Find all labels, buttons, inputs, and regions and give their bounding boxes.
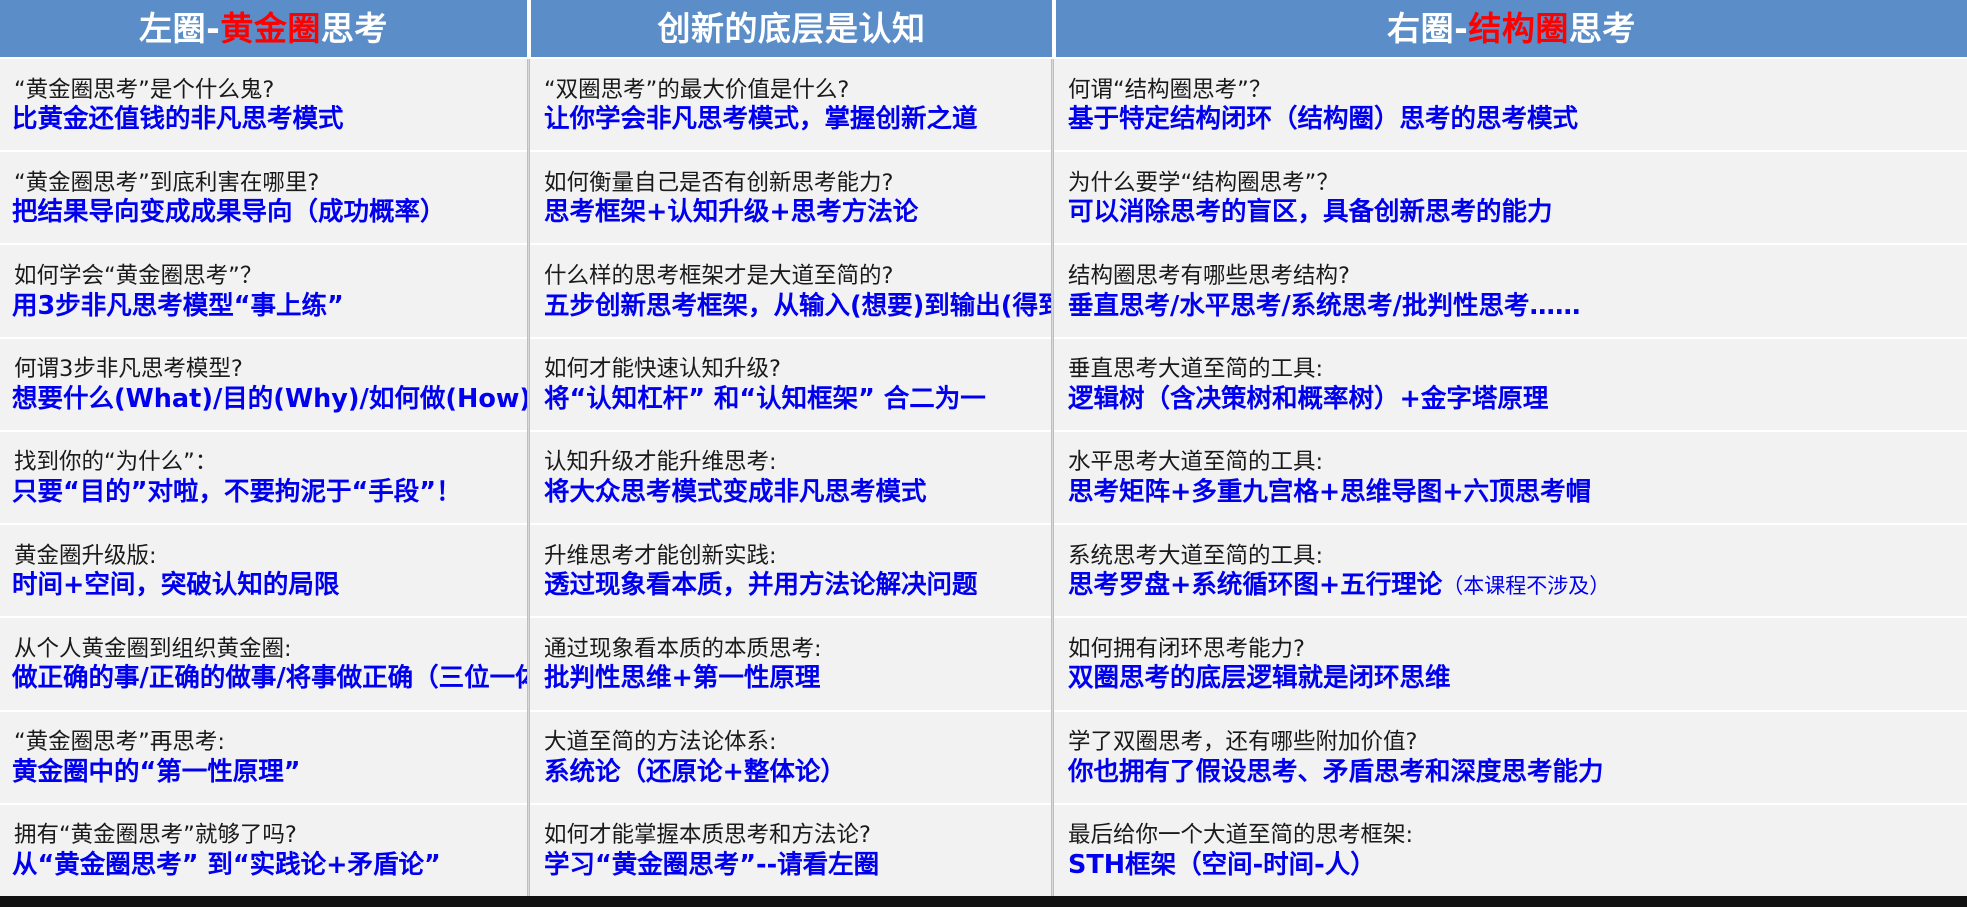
row-question: 从个人黄金圈到组织黄金圈: — [12, 636, 517, 663]
header-left-suffix: 思考 — [321, 12, 388, 45]
table-row: 如何学会“黄金圈思考”？ 用3步非凡思考模型“事上练” — [0, 245, 527, 338]
row-answer-note: （本课程不涉及） — [1442, 574, 1610, 598]
row-answer: 思考框架+认知升级+思考方法论 — [544, 197, 918, 228]
row-question: 黄金圈升级版: — [12, 543, 517, 570]
row-answer: 可以消除思考的盲区，具备创新思考的能力 — [1068, 197, 1957, 228]
table-row: 什么样的思考框架才是大道至简的? 五步创新思考框架，从输入(想要)到输出(得到) — [530, 245, 1051, 338]
table-row: 黄金圈升级版: 时间+空间，突破认知的局限 — [0, 525, 527, 618]
row-answer: 垂直思考/水平思考/系统思考/批判性思考…… — [1068, 291, 1957, 322]
bottom-bar — [0, 896, 1967, 907]
row-question: 如何学会“黄金圈思考”？ — [12, 263, 517, 290]
row-answer: 思考矩阵+多重九宫格+思维导图+六顶思考帽 — [1068, 477, 1957, 508]
row-question: 如何衡量自己是否有创新思考能力? — [544, 170, 893, 197]
row-answer: 做正确的事/正确的做事/将事做正确（三位一体） — [12, 663, 517, 694]
row-answer: 将大众思考模式变成非凡思考模式 — [544, 477, 927, 508]
row-question: 学了双圈思考，还有哪些附加价值? — [1068, 729, 1957, 756]
row-answer: 基于特定结构闭环（结构圈）思考的思考模式 — [1068, 104, 1957, 135]
row-question: 水平思考大道至简的工具: — [1068, 449, 1957, 476]
header-right-circle: 右圈-结构圈思考 — [1056, 0, 1967, 57]
table-row: 如何才能快速认知升级? 将“认知杠杆” 和“认知框架” 合二为一 — [530, 339, 1051, 432]
header-right-suffix: 思考 — [1569, 12, 1636, 45]
table-row: 升维思考才能创新实践: 透过现象看本质，并用方法论解决问题 — [530, 525, 1051, 618]
row-answer: 想要什么(What)/目的(Why)/如何做(How) — [12, 384, 517, 415]
row-question: 通过现象看本质的本质思考: — [544, 636, 822, 663]
table-row: “双圈思考”的最大价值是什么? 让你学会非凡思考模式，掌握创新之道 — [530, 59, 1051, 152]
row-answer: 从“黄金圈思考” 到“实践论+矛盾论” — [12, 850, 517, 881]
table-row: 垂直思考大道至简的工具: 逻辑树（含决策树和概率树）+金字塔原理 — [1054, 339, 1967, 432]
row-answer: 比黄金还值钱的非凡思考模式 — [12, 104, 517, 135]
table-row: 何谓“结构圈思考”？ 基于特定结构闭环（结构圈）思考的思考模式 — [1054, 59, 1967, 152]
row-question: 拥有“黄金圈思考”就够了吗? — [12, 822, 517, 849]
header-left-circle: 左圈-黄金圈思考 — [0, 0, 527, 57]
table-row: 系统思考大道至简的工具: 思考罗盘+系统循环图+五行理论（本课程不涉及） — [1054, 525, 1967, 618]
row-answer: 透过现象看本质，并用方法论解决问题 — [544, 570, 978, 601]
three-column-comparison-table: 左圈-黄金圈思考 创新的底层是认知 右圈-结构圈思考 “黄金圈思考”是个什么鬼?… — [0, 0, 1967, 907]
row-answer: 你也拥有了假设思考、矛盾思考和深度思考能力 — [1068, 757, 1957, 788]
row-answer: 将“认知杠杆” 和“认知框架” 合二为一 — [544, 384, 986, 415]
row-answer: 让你学会非凡思考模式，掌握创新之道 — [544, 104, 978, 135]
row-question: 如何拥有闭环思考能力? — [1068, 636, 1957, 663]
row-answer: 学习“黄金圈思考”--请看左圈 — [544, 850, 879, 881]
table-row: 结构圈思考有哪些思考结构? 垂直思考/水平思考/系统思考/批判性思考…… — [1054, 245, 1967, 338]
row-answer: 只要“目的”对啦，不要拘泥于“手段”！ — [12, 477, 517, 508]
row-answer: 双圈思考的底层逻辑就是闭环思维 — [1068, 663, 1957, 694]
table-row: 大道至简的方法论体系: 系统论（还原论+整体论） — [530, 712, 1051, 805]
row-question: 大道至简的方法论体系: — [544, 729, 777, 756]
table-row: 拥有“黄金圈思考”就够了吗? 从“黄金圈思考” 到“实践论+矛盾论” — [0, 805, 527, 896]
row-answer: 系统论（还原论+整体论） — [544, 757, 846, 788]
column-right: 何谓“结构圈思考”？ 基于特定结构闭环（结构圈）思考的思考模式 为什么要学“结构… — [1054, 59, 1967, 896]
row-question: 结构圈思考有哪些思考结构? — [1068, 263, 1957, 290]
row-question: 何谓“结构圈思考”？ — [1068, 77, 1957, 104]
header-left-highlight: 黄金圈 — [220, 12, 321, 45]
row-answer: 黄金圈中的“第一性原理” — [12, 757, 517, 788]
column-middle: “双圈思考”的最大价值是什么? 让你学会非凡思考模式，掌握创新之道 如何衡量自己… — [530, 59, 1051, 896]
table-row: 认知升级才能升维思考: 将大众思考模式变成非凡思考模式 — [530, 432, 1051, 525]
header-right-highlight: 结构圈 — [1468, 12, 1569, 45]
row-answer: STH框架（空间-时间-人） — [1068, 850, 1957, 881]
header-left-prefix: 左圈- — [139, 12, 220, 45]
table-row: “黄金圈思考”再思考: 黄金圈中的“第一性原理” — [0, 712, 527, 805]
table-header-row: 左圈-黄金圈思考 创新的底层是认知 右圈-结构圈思考 — [0, 0, 1967, 57]
row-answer: 逻辑树（含决策树和概率树）+金字塔原理 — [1068, 384, 1957, 415]
column-left: “黄金圈思考”是个什么鬼? 比黄金还值钱的非凡思考模式 “黄金圈思考”到底利害在… — [0, 59, 527, 896]
table-row: 为什么要学“结构圈思考”？ 可以消除思考的盲区，具备创新思考的能力 — [1054, 152, 1967, 245]
table-row: “黄金圈思考”到底利害在哪里? 把结果导向变成成果导向（成功概率） — [0, 152, 527, 245]
table-row: “黄金圈思考”是个什么鬼? 比黄金还值钱的非凡思考模式 — [0, 59, 527, 152]
row-question: 找到你的“为什么”： — [12, 449, 517, 476]
table-row: 从个人黄金圈到组织黄金圈: 做正确的事/正确的做事/将事做正确（三位一体） — [0, 618, 527, 711]
row-answer: 五步创新思考框架，从输入(想要)到输出(得到) — [544, 291, 1051, 322]
row-question: 垂直思考大道至简的工具: — [1068, 356, 1957, 383]
table-body: “黄金圈思考”是个什么鬼? 比黄金还值钱的非凡思考模式 “黄金圈思考”到底利害在… — [0, 57, 1967, 896]
table-row: 如何拥有闭环思考能力? 双圈思考的底层逻辑就是闭环思维 — [1054, 618, 1967, 711]
table-row: 最后给你一个大道至简的思考框架: STH框架（空间-时间-人） — [1054, 805, 1967, 896]
table-row: 何谓3步非凡思考模型? 想要什么(What)/目的(Why)/如何做(How) — [0, 339, 527, 432]
table-row: 如何衡量自己是否有创新思考能力? 思考框架+认知升级+思考方法论 — [530, 152, 1051, 245]
row-question: 升维思考才能创新实践: — [544, 543, 777, 570]
row-answer: 用3步非凡思考模型“事上练” — [12, 291, 517, 322]
header-right-prefix: 右圈- — [1387, 12, 1468, 45]
row-question: 为什么要学“结构圈思考”？ — [1068, 170, 1957, 197]
header-middle-cognition: 创新的底层是认知 — [531, 0, 1052, 57]
row-question: 何谓3步非凡思考模型? — [12, 356, 517, 383]
header-middle-text: 创新的底层是认知 — [658, 12, 926, 45]
row-question: “黄金圈思考”是个什么鬼? — [12, 77, 517, 104]
row-answer: 思考罗盘+系统循环图+五行理论（本课程不涉及） — [1068, 570, 1957, 601]
table-row: 通过现象看本质的本质思考: 批判性思维+第一性原理 — [530, 618, 1051, 711]
row-answer: 把结果导向变成成果导向（成功概率） — [12, 197, 517, 228]
row-question: 如何才能掌握本质思考和方法论? — [544, 822, 871, 849]
row-answer: 批判性思维+第一性原理 — [544, 663, 820, 694]
row-question: 什么样的思考框架才是大道至简的? — [544, 263, 893, 290]
row-answer: 时间+空间，突破认知的局限 — [12, 570, 517, 601]
row-question: “黄金圈思考”到底利害在哪里? — [12, 170, 517, 197]
row-question: 最后给你一个大道至简的思考框架: — [1068, 822, 1957, 849]
row-question: 认知升级才能升维思考: — [544, 449, 777, 476]
row-question: “黄金圈思考”再思考: — [12, 729, 517, 756]
table-row: 如何才能掌握本质思考和方法论? 学习“黄金圈思考”--请看左圈 — [530, 805, 1051, 896]
row-question: 系统思考大道至简的工具: — [1068, 543, 1957, 570]
row-answer-main: 思考罗盘+系统循环图+五行理论 — [1068, 570, 1442, 600]
table-row: 学了双圈思考，还有哪些附加价值? 你也拥有了假设思考、矛盾思考和深度思考能力 — [1054, 712, 1967, 805]
row-question: 如何才能快速认知升级? — [544, 356, 781, 383]
table-row: 水平思考大道至简的工具: 思考矩阵+多重九宫格+思维导图+六顶思考帽 — [1054, 432, 1967, 525]
table-row: 找到你的“为什么”： 只要“目的”对啦，不要拘泥于“手段”！ — [0, 432, 527, 525]
row-question: “双圈思考”的最大价值是什么? — [544, 77, 849, 104]
